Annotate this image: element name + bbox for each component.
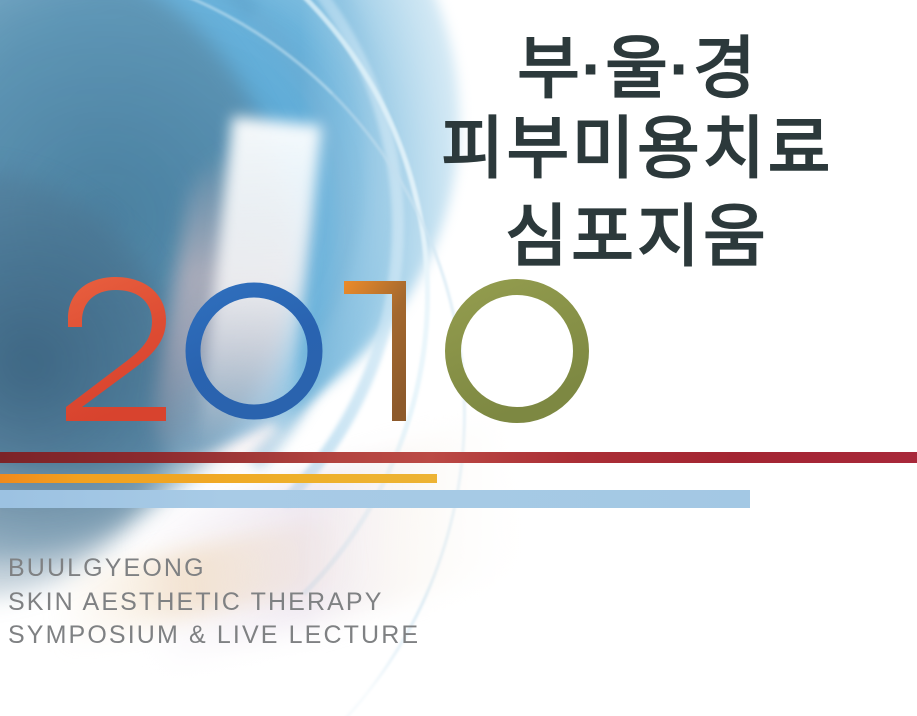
red-rule <box>0 452 917 463</box>
orange-rule <box>0 474 437 483</box>
digit-two <box>62 275 172 427</box>
korean-title-line-2: 피부미용치료 <box>441 105 833 193</box>
digit-one <box>336 275 431 427</box>
digit-zero-blue <box>184 275 324 427</box>
english-subtitle-line-2: SKIN AESTHETIC THERAPY <box>8 586 420 620</box>
english-subtitle-block: BUULGYEONG SKIN AESTHETIC THERAPY SYMPOS… <box>8 552 420 653</box>
english-subtitle-line-3: SYMPOSIUM & LIVE LECTURE <box>8 619 420 653</box>
digit-zero-olive <box>443 275 591 427</box>
poster-canvas: 부·울·경 피부미용치료 심포지움 <box>0 0 917 716</box>
korean-title-block: 부·울·경 피부미용치료 심포지움 <box>441 34 833 282</box>
korean-title-line-1: 부·울·경 <box>441 34 833 105</box>
english-subtitle-line-1: BUULGYEONG <box>8 552 420 586</box>
year-logotype <box>62 268 591 433</box>
blue-rule <box>0 490 750 508</box>
